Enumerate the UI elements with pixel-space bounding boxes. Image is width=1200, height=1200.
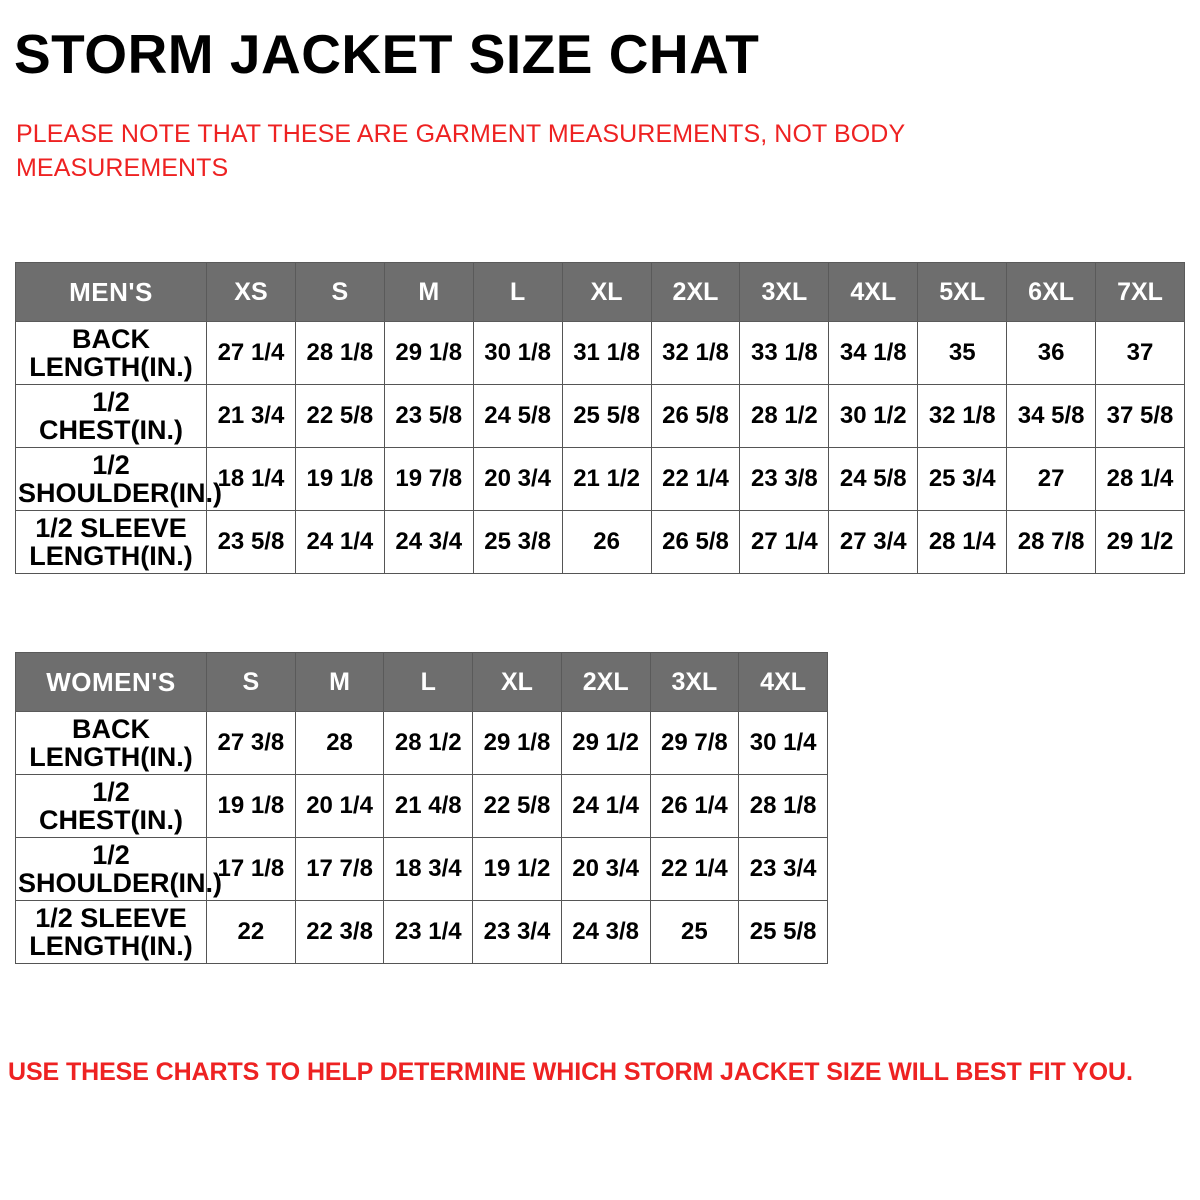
mens-size-header-m: M (384, 263, 473, 322)
womens-measurement-cell: 20 3/4 (561, 838, 650, 901)
mens-size-header-xl: XL (562, 263, 651, 322)
mens-measurement-cell: 32 1/8 (918, 385, 1007, 448)
womens-corner-header: WOMEN'S (16, 653, 207, 712)
womens-measurement-cell: 23 1/4 (384, 901, 473, 964)
womens-size-header-2xl: 2XL (561, 653, 650, 712)
womens-measurement-cell: 25 5/8 (739, 901, 828, 964)
mens-row-label: BACKLENGTH(IN.) (16, 322, 207, 385)
womens-measurement-cell: 28 (295, 712, 384, 775)
womens-table-row: BACKLENGTH(IN.)27 3/82828 1/229 1/829 1/… (16, 712, 828, 775)
mens-measurement-cell: 21 1/2 (562, 448, 651, 511)
mens-size-header-6xl: 6XL (1007, 263, 1096, 322)
womens-measurement-cell: 29 7/8 (650, 712, 739, 775)
womens-measurement-cell: 17 7/8 (295, 838, 384, 901)
mens-measurement-cell: 22 1/4 (651, 448, 740, 511)
mens-size-header-xs: XS (207, 263, 296, 322)
mens-corner-header: MEN'S (16, 263, 207, 322)
womens-measurement-cell: 25 (650, 901, 739, 964)
womens-measurement-cell: 28 1/8 (739, 775, 828, 838)
womens-measurement-cell: 28 1/2 (384, 712, 473, 775)
mens-measurement-cell: 19 1/8 (295, 448, 384, 511)
mens-measurement-cell: 25 3/8 (473, 511, 562, 574)
mens-measurement-cell: 25 5/8 (562, 385, 651, 448)
womens-row-label: 1/2 CHEST(IN.) (16, 775, 207, 838)
page-title: STORM JACKET SIZE CHAT (14, 26, 759, 84)
womens-size-header-m: M (295, 653, 384, 712)
mens-measurement-cell: 22 5/8 (295, 385, 384, 448)
mens-header-row: MEN'SXSSMLXL2XL3XL4XL5XL6XL7XL (16, 263, 1185, 322)
mens-size-header-7xl: 7XL (1096, 263, 1185, 322)
womens-measurement-cell: 22 (207, 901, 296, 964)
mens-measurement-cell: 27 1/4 (207, 322, 296, 385)
mens-table-row: BACKLENGTH(IN.)27 1/428 1/829 1/830 1/83… (16, 322, 1185, 385)
mens-measurement-cell: 19 7/8 (384, 448, 473, 511)
mens-measurement-cell: 23 5/8 (384, 385, 473, 448)
mens-size-header-4xl: 4XL (829, 263, 918, 322)
mens-measurement-cell: 37 5/8 (1096, 385, 1185, 448)
mens-measurement-cell: 28 1/8 (295, 322, 384, 385)
mens-measurement-cell: 24 5/8 (829, 448, 918, 511)
mens-measurement-cell: 24 5/8 (473, 385, 562, 448)
mens-measurement-cell: 24 3/4 (384, 511, 473, 574)
mens-row-label: 1/2 SHOULDER(IN.) (16, 448, 207, 511)
mens-measurement-cell: 36 (1007, 322, 1096, 385)
womens-measurement-cell: 22 1/4 (650, 838, 739, 901)
mens-measurement-cell: 23 5/8 (207, 511, 296, 574)
mens-measurement-cell: 25 3/4 (918, 448, 1007, 511)
womens-table-row: 1/2 SLEEVELENGTH(IN.)2222 3/823 1/423 3/… (16, 901, 828, 964)
womens-measurement-cell: 29 1/2 (561, 712, 650, 775)
mens-size-table: MEN'SXSSMLXL2XL3XL4XL5XL6XL7XL BACKLENGT… (15, 262, 1185, 574)
womens-size-header-l: L (384, 653, 473, 712)
mens-measurement-cell: 32 1/8 (651, 322, 740, 385)
mens-measurement-cell: 24 1/4 (295, 511, 384, 574)
mens-measurement-cell: 30 1/2 (829, 385, 918, 448)
mens-size-header-l: L (473, 263, 562, 322)
womens-size-header-xl: XL (473, 653, 562, 712)
womens-measurement-cell: 22 3/8 (295, 901, 384, 964)
mens-table-row: 1/2 CHEST(IN.)21 3/422 5/823 5/824 5/825… (16, 385, 1185, 448)
mens-measurement-cell: 28 1/4 (1096, 448, 1185, 511)
mens-measurement-cell: 26 5/8 (651, 511, 740, 574)
womens-table-row: 1/2 SHOULDER(IN.)17 1/817 7/818 3/419 1/… (16, 838, 828, 901)
mens-measurement-cell: 29 1/8 (384, 322, 473, 385)
womens-table-row: 1/2 CHEST(IN.)19 1/820 1/421 4/822 5/824… (16, 775, 828, 838)
mens-measurement-cell: 31 1/8 (562, 322, 651, 385)
mens-size-header-3xl: 3XL (740, 263, 829, 322)
womens-measurement-cell: 23 3/4 (739, 838, 828, 901)
mens-measurement-cell: 21 3/4 (207, 385, 296, 448)
mens-measurement-cell: 34 5/8 (1007, 385, 1096, 448)
size-chart-page: STORM JACKET SIZE CHAT PLEASE NOTE THAT … (0, 0, 1200, 1200)
mens-table-head: MEN'SXSSMLXL2XL3XL4XL5XL6XL7XL (16, 263, 1185, 322)
womens-measurement-cell: 27 3/8 (207, 712, 296, 775)
womens-measurement-cell: 30 1/4 (739, 712, 828, 775)
womens-measurement-cell: 18 3/4 (384, 838, 473, 901)
garment-measurement-note: PLEASE NOTE THAT THESE ARE GARMENT MEASU… (16, 118, 976, 186)
womens-measurement-cell: 23 3/4 (473, 901, 562, 964)
womens-table-body: BACKLENGTH(IN.)27 3/82828 1/229 1/829 1/… (16, 712, 828, 964)
mens-measurement-cell: 20 3/4 (473, 448, 562, 511)
mens-measurement-cell: 29 1/2 (1096, 511, 1185, 574)
womens-size-table: WOMEN'SSMLXL2XL3XL4XL BACKLENGTH(IN.)27 … (15, 652, 828, 964)
mens-row-label: 1/2 CHEST(IN.) (16, 385, 207, 448)
mens-measurement-cell: 26 (562, 511, 651, 574)
womens-size-header-4xl: 4XL (739, 653, 828, 712)
womens-measurement-cell: 29 1/8 (473, 712, 562, 775)
mens-measurement-cell: 28 7/8 (1007, 511, 1096, 574)
mens-measurement-cell: 30 1/8 (473, 322, 562, 385)
womens-row-label: 1/2 SHOULDER(IN.) (16, 838, 207, 901)
mens-measurement-cell: 28 1/2 (740, 385, 829, 448)
womens-measurement-cell: 26 1/4 (650, 775, 739, 838)
womens-size-header-s: S (207, 653, 296, 712)
mens-table-row: 1/2 SHOULDER(IN.)18 1/419 1/819 7/820 3/… (16, 448, 1185, 511)
womens-measurement-cell: 21 4/8 (384, 775, 473, 838)
womens-measurement-cell: 19 1/2 (473, 838, 562, 901)
mens-measurement-cell: 28 1/4 (918, 511, 1007, 574)
mens-size-header-5xl: 5XL (918, 263, 1007, 322)
mens-measurement-cell: 35 (918, 322, 1007, 385)
mens-measurement-cell: 26 5/8 (651, 385, 740, 448)
womens-measurement-cell: 24 1/4 (561, 775, 650, 838)
womens-size-header-3xl: 3XL (650, 653, 739, 712)
womens-table-head: WOMEN'SSMLXL2XL3XL4XL (16, 653, 828, 712)
mens-size-header-2xl: 2XL (651, 263, 740, 322)
footer-guidance-note: USE THESE CHARTS TO HELP DETERMINE WHICH… (8, 1058, 1178, 1087)
womens-measurement-cell: 24 3/8 (561, 901, 650, 964)
mens-measurement-cell: 27 3/4 (829, 511, 918, 574)
womens-measurement-cell: 19 1/8 (207, 775, 296, 838)
mens-table-row: 1/2 SLEEVELENGTH(IN.)23 5/824 1/424 3/42… (16, 511, 1185, 574)
mens-measurement-cell: 33 1/8 (740, 322, 829, 385)
mens-size-header-s: S (295, 263, 384, 322)
womens-row-label: 1/2 SLEEVELENGTH(IN.) (16, 901, 207, 964)
mens-measurement-cell: 23 3/8 (740, 448, 829, 511)
womens-header-row: WOMEN'SSMLXL2XL3XL4XL (16, 653, 828, 712)
mens-row-label: 1/2 SLEEVELENGTH(IN.) (16, 511, 207, 574)
womens-row-label: BACKLENGTH(IN.) (16, 712, 207, 775)
mens-measurement-cell: 34 1/8 (829, 322, 918, 385)
womens-measurement-cell: 20 1/4 (295, 775, 384, 838)
mens-table-body: BACKLENGTH(IN.)27 1/428 1/829 1/830 1/83… (16, 322, 1185, 574)
mens-measurement-cell: 27 (1007, 448, 1096, 511)
mens-measurement-cell: 37 (1096, 322, 1185, 385)
womens-measurement-cell: 22 5/8 (473, 775, 562, 838)
mens-measurement-cell: 27 1/4 (740, 511, 829, 574)
